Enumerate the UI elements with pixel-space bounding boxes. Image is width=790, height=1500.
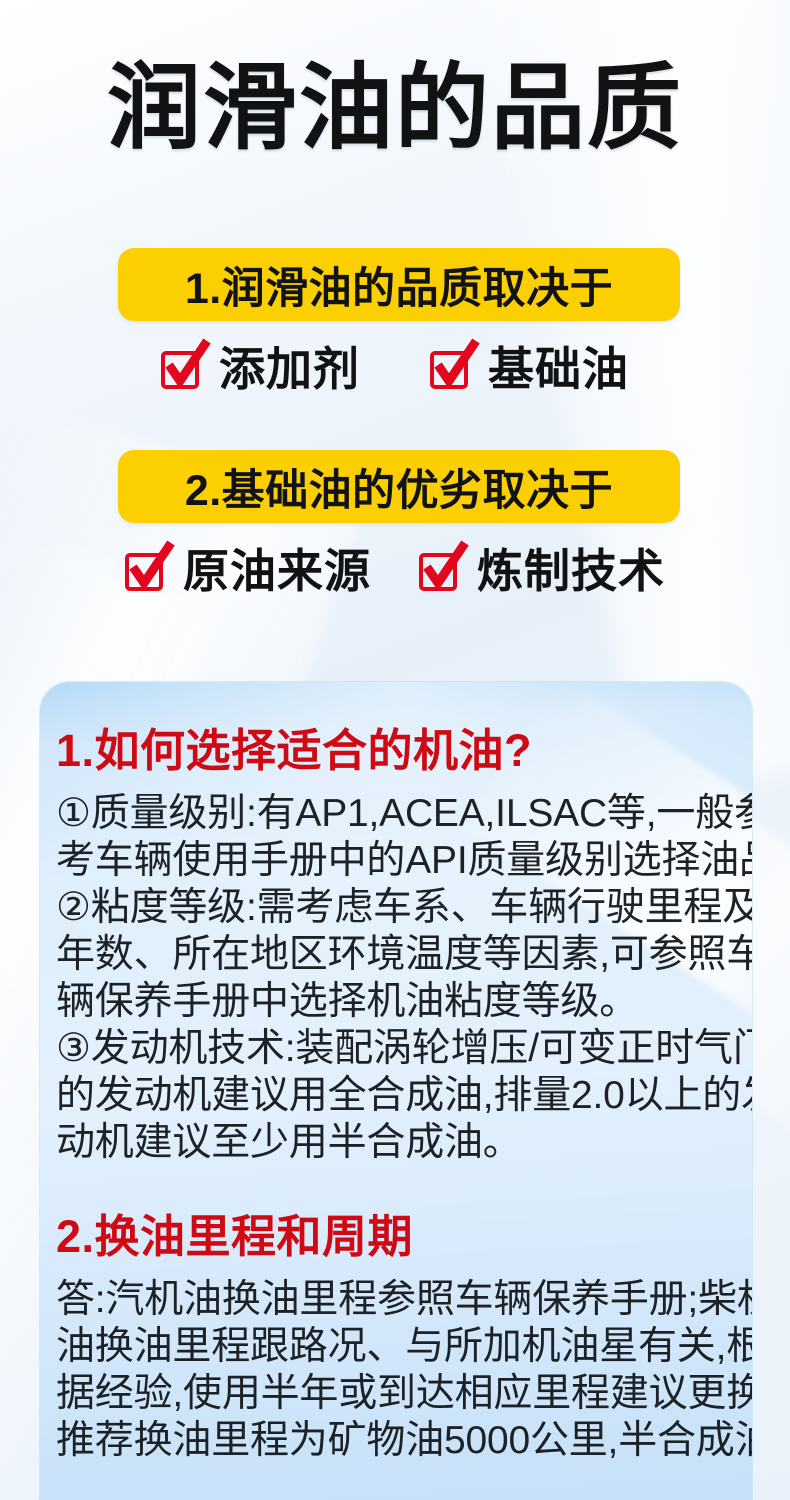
faq-card-content: 1.如何选择适合的机油? ①质量级别:有AP1,ACEA,ILSAC等,一般参 … xyxy=(40,682,752,1464)
checklist-item-label: 基础油 xyxy=(488,344,629,394)
checklist-item[interactable]: 炼制技术 xyxy=(419,546,665,596)
page-title: 润滑油的品质 xyxy=(0,52,790,164)
checklist-row-2: 原油来源 炼制技术 xyxy=(0,546,790,596)
faq-body-line: 考车辆使用手册中的API质量级别选择油品。 xyxy=(56,837,736,884)
section-banner-2-label: 2.基础油的优劣取决于 xyxy=(185,456,613,518)
faq-body-line: ①质量级别:有AP1,ACEA,ILSAC等,一般参 xyxy=(56,790,736,837)
faq-body-line: 据经验,使用半年或到达相应里程建议更换。 xyxy=(56,1370,736,1417)
faq-heading-2: 2.换油里程和周期 xyxy=(56,1210,736,1264)
checklist-item[interactable]: 添加剂 xyxy=(161,344,360,394)
checklist-item[interactable]: 基础油 xyxy=(430,344,629,394)
faq-body-line: 辆保养手册中选择机油粘度等级。 xyxy=(56,978,736,1025)
faq-card: 1.如何选择适合的机油? ①质量级别:有AP1,ACEA,ILSAC等,一般参 … xyxy=(40,682,752,1500)
faq-heading-1: 1.如何选择适合的机油? xyxy=(56,724,736,778)
faq-body-line: 年数、所在地区环境温度等因素,可参照车 xyxy=(56,931,736,978)
checkbox-checked-icon xyxy=(430,347,474,391)
checkbox-checked-icon xyxy=(125,549,169,593)
section-banner-2: 2.基础油的优劣取决于 xyxy=(118,450,680,523)
checklist-item-label: 炼制技术 xyxy=(477,546,665,596)
faq-body-line: ③发动机技术:装配涡轮增压/可变正时气门 xyxy=(56,1025,736,1072)
checklist-item[interactable]: 原油来源 xyxy=(125,546,371,596)
faq-body-line: 答:汽机油换油里程参照车辆保养手册;柴机 xyxy=(56,1276,736,1323)
faq-body-line: 的发动机建议用全合成油,排量2.0以上的发 xyxy=(56,1072,736,1119)
checklist-item-label: 添加剂 xyxy=(219,344,360,394)
faq-body-line: ②粘度等级:需考虑车系、车辆行驶里程及 xyxy=(56,884,736,931)
checklist-row-1: 添加剂 基础油 xyxy=(0,344,790,394)
checklist-item-label: 原油来源 xyxy=(183,546,371,596)
section-banner-1: 1.润滑油的品质取决于 xyxy=(118,248,680,321)
checkbox-checked-icon xyxy=(419,549,463,593)
checkbox-checked-icon xyxy=(161,347,205,391)
section-banner-1-label: 1.润滑油的品质取决于 xyxy=(185,254,613,316)
faq-body-line: 推荐换油里程为矿物油5000公里,半合成油 xyxy=(56,1417,736,1464)
infographic-page: 润滑油的品质 1.润滑油的品质取决于 添加剂 基础油 2.基础油 xyxy=(0,0,790,1500)
faq-body-line: 油换油里程跟路况、与所加机油星有关,根 xyxy=(56,1323,736,1370)
faq-body-line: 动机建议至少用半合成油。 xyxy=(56,1119,736,1166)
